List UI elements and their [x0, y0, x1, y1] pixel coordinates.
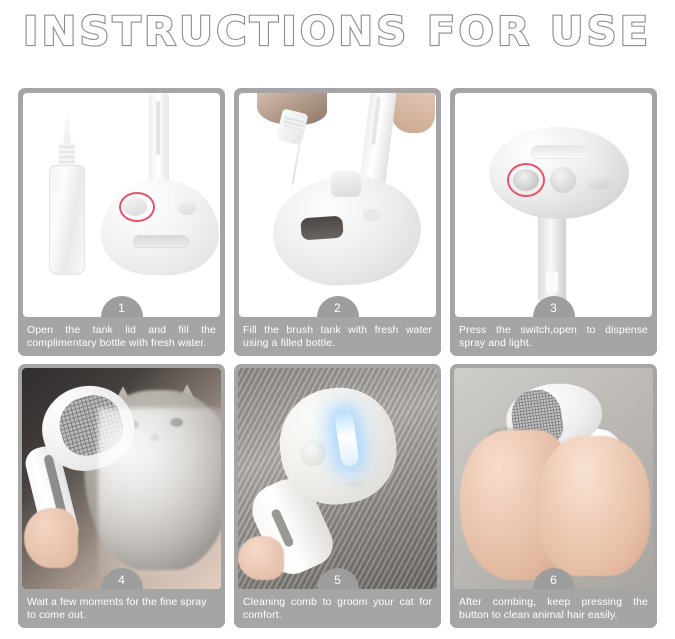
- step-3-illustration: 3: [455, 93, 652, 317]
- page-title-wrapper: INSTRUCTIONS FOR USE: [0, 8, 675, 56]
- step-panel-3: 3 Press the switch,open to dispense spra…: [450, 88, 657, 356]
- page-title: INSTRUCTIONS FOR USE: [23, 8, 651, 56]
- tank-window-icon: [133, 235, 189, 248]
- scene-bottle-and-device: [23, 93, 220, 317]
- step-panel-1: 1 Open the tank lid and fill the complim…: [18, 88, 225, 356]
- step-1-illustration: 1: [23, 93, 220, 317]
- hand-secondary-icon: [391, 93, 435, 133]
- step-caption: Press the switch,open to dispense spray …: [450, 317, 657, 356]
- bottle-body-icon: [49, 165, 85, 275]
- secondary-button-icon: [587, 173, 611, 189]
- tank-port-icon: [331, 171, 361, 197]
- step-6-illustration: 6: [454, 368, 653, 589]
- instructions-page: INSTRUCTIONS FOR USE 1 Ope: [0, 0, 675, 639]
- highlight-ring-icon: [507, 163, 545, 197]
- device-button-icon: [363, 209, 381, 222]
- step-2-illustration: 2: [239, 93, 436, 317]
- device-head-icon: [101, 179, 219, 275]
- tank-window-icon: [531, 145, 589, 159]
- device-button-icon: [342, 472, 364, 487]
- hand-icon: [238, 536, 284, 580]
- scene-spray-on-cat: [22, 368, 221, 589]
- scene-grooming-fur: [238, 368, 437, 589]
- steps-grid: 1 Open the tank lid and fill the complim…: [18, 88, 657, 628]
- step-caption: Open the tank lid and fill the complimen…: [18, 317, 225, 356]
- bottle-neck-icon: [59, 143, 75, 167]
- step-5-illustration: 5: [238, 368, 437, 589]
- scene-cleaning-hair: [454, 368, 653, 589]
- step-caption: After combing, keep pressing the button …: [450, 589, 657, 628]
- bottle-tip-icon: [63, 110, 71, 146]
- tank-window-icon: [300, 216, 343, 241]
- step-panel-6: 6 After combing, keep pressing the butto…: [450, 364, 657, 628]
- highlight-ring-icon: [119, 192, 155, 222]
- water-spray-icon: [98, 408, 221, 578]
- device-knob-icon: [550, 167, 576, 193]
- step-panel-5: 5 Cleaning comb to groom your cat for co…: [234, 364, 441, 628]
- device-stem-slot-icon: [156, 101, 160, 155]
- device-knob-icon: [300, 440, 326, 466]
- step-4-illustration: 4: [22, 368, 221, 589]
- scene-filling-tank: [239, 93, 436, 317]
- device-neck-tab-icon: [546, 271, 558, 293]
- step-caption: Fill the brush tank with fresh water usi…: [234, 317, 441, 356]
- hand-icon: [24, 508, 78, 568]
- secondary-button-icon: [178, 201, 196, 215]
- step-panel-4: 4 Wait a few moments for the fine spray …: [18, 364, 225, 628]
- step-panel-2: 2 Fill the brush tank with fresh water u…: [234, 88, 441, 356]
- scene-press-switch: [455, 93, 652, 317]
- step-caption: Cleaning comb to groom your cat for comf…: [234, 589, 441, 628]
- step-caption: Wait a few moments for the fine spray to…: [18, 589, 225, 628]
- hand-right-icon: [540, 436, 650, 576]
